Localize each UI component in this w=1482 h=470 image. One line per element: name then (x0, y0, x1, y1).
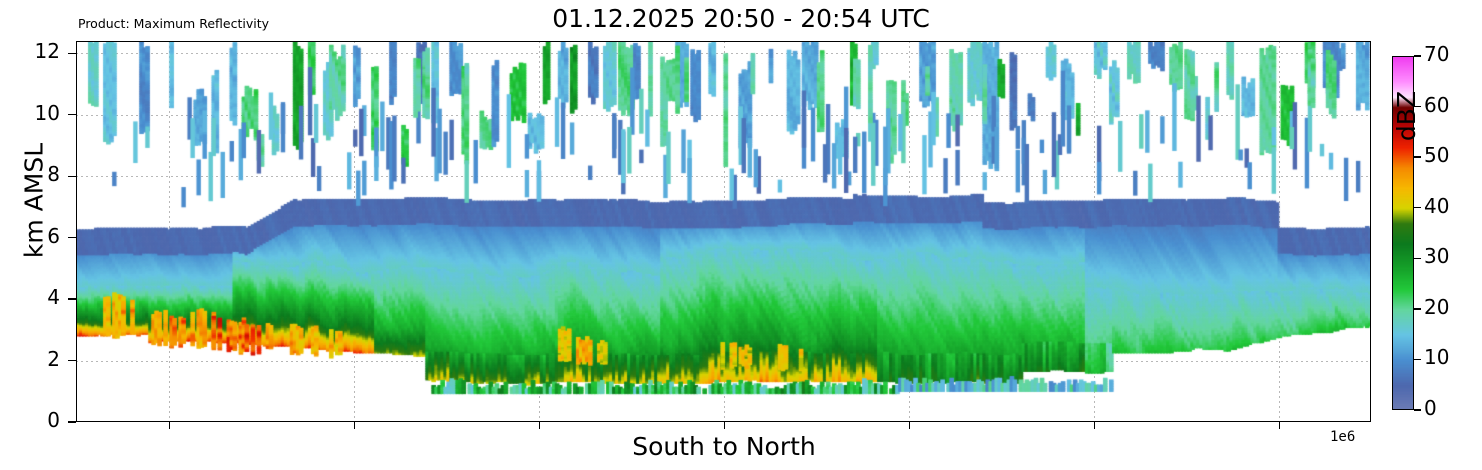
y-tick (68, 114, 76, 115)
figure-root: 01.12.2025 20:50 - 20:54 UTC Product: Ma… (0, 0, 1482, 470)
colorbar-tick (1414, 207, 1421, 208)
y-tick (68, 176, 76, 177)
y-tick-label: 8 (0, 162, 60, 186)
heatmap-canvas (76, 41, 1371, 422)
y-tick-label: 6 (0, 224, 60, 248)
y-tick-label: 2 (0, 347, 60, 371)
colorbar-tick-label: 10 (1424, 345, 1449, 369)
colorbar-tick-label: 40 (1424, 194, 1449, 218)
x-tick (1279, 422, 1280, 429)
y-tick (68, 298, 76, 299)
product-label: Product: Maximum Reflectivity (78, 16, 269, 31)
x-tick (539, 422, 540, 429)
colorbar-tick-label: 60 (1424, 93, 1449, 117)
colorbar-tick-label: 50 (1424, 143, 1449, 167)
colorbar-tick-label: 30 (1424, 244, 1449, 268)
y-tick (68, 360, 76, 361)
x-tick (909, 422, 910, 429)
reflectivity-heatmap[interactable] (76, 41, 1371, 422)
x-tick (169, 422, 170, 429)
colorbar-tick-label: 20 (1424, 295, 1449, 319)
y-tick (68, 53, 76, 54)
colorbar-tick-label: 70 (1424, 42, 1449, 66)
y-tick-label: 0 (0, 408, 60, 432)
y-tick (68, 237, 76, 238)
x-tick (354, 422, 355, 429)
x-tick (724, 422, 725, 429)
x-axis-offset-text: 1e6 (1330, 429, 1355, 445)
colorbar-tick (1414, 308, 1421, 309)
colorbar-label: dBZ (1392, 36, 1421, 196)
colorbar-tick (1414, 258, 1421, 259)
y-tick (68, 421, 76, 422)
colorbar-tick-label: 0 (1424, 396, 1437, 420)
y-tick-label: 4 (0, 285, 60, 309)
x-tick (1094, 422, 1095, 429)
x-axis-label: South to North (0, 432, 1448, 461)
y-tick-label: 10 (0, 101, 60, 125)
y-tick-label: 12 (0, 39, 60, 63)
colorbar-tick (1414, 409, 1421, 410)
colorbar-tick (1414, 359, 1421, 360)
